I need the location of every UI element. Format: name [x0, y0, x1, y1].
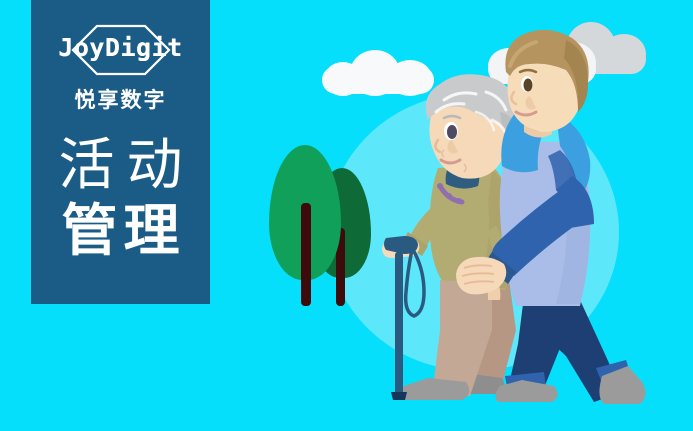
logo-wordmark: JoyDigit — [31, 33, 210, 62]
page-title: 活动 管理 — [31, 132, 210, 264]
logo-subtitle: 悦享数字 — [31, 84, 210, 114]
brand-panel: JoyDigit 悦享数字 活动 管理 — [31, 0, 210, 304]
tree-icon-front-trunk — [301, 203, 311, 306]
logo-block: JoyDigit 悦享数字 — [31, 24, 210, 114]
page-title-line-2: 管理 — [31, 198, 210, 264]
cloud-icon-left — [322, 48, 434, 94]
logo-mark: JoyDigit — [31, 24, 210, 76]
page-title-line-1: 活动 — [31, 132, 210, 198]
poster-canvas: JoyDigit 悦享数字 活动 管理 — [0, 0, 693, 431]
cloud-icon-right-front — [488, 32, 596, 84]
